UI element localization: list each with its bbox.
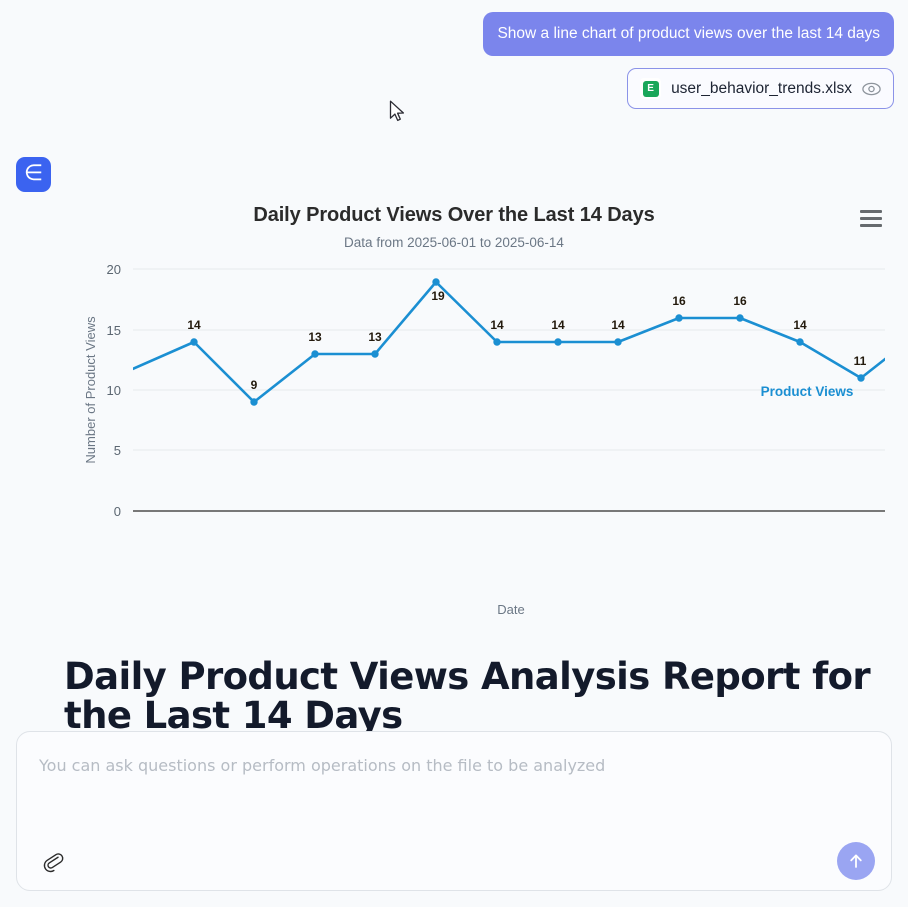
chart-marker: [796, 338, 803, 345]
y-tick-15: 15: [107, 323, 121, 338]
y-tick-0: 0: [114, 504, 121, 519]
mouse-cursor: [389, 100, 407, 129]
assistant-avatar: ∈: [16, 157, 51, 192]
data-label: 9: [251, 378, 258, 392]
chart-y-tick-labels: 20 15 10 5 0: [107, 262, 121, 519]
data-label: 14: [793, 318, 807, 332]
attachment-file-name: user_behavior_trends.xlsx: [671, 80, 852, 98]
send-button[interactable]: [837, 842, 875, 880]
chart-marker: [371, 350, 378, 357]
excel-file-icon-letter: E: [643, 81, 659, 97]
data-label: 16: [672, 294, 686, 308]
user-message-row: Show a line chart of product views over …: [0, 0, 908, 56]
chart-x-axis-title: Date: [497, 602, 524, 617]
data-label: 13: [368, 330, 382, 344]
data-label: 14: [611, 318, 625, 332]
data-label: 11: [854, 354, 867, 368]
chart-marker: [614, 338, 621, 345]
chart-series-label: Product Views: [761, 384, 854, 399]
chart-y-axis-title: Number of Product Views: [83, 316, 98, 464]
chart-marker: [736, 314, 743, 321]
chart-data-labels: 14 9 13 13 19 14 14 14 16 16 14 11: [187, 289, 866, 392]
attachment-chip[interactable]: E user_behavior_trends.xlsx: [627, 68, 894, 109]
chart-marker: [432, 278, 439, 285]
user-message-bubble: Show a line chart of product views over …: [483, 12, 894, 56]
line-chart: Daily Product Views Over the Last 14 Day…: [0, 190, 908, 630]
paperclip-icon[interactable]: [37, 846, 67, 876]
data-label: 14: [187, 318, 201, 332]
attachment-row: E user_behavior_trends.xlsx: [0, 56, 908, 109]
data-label: 13: [308, 330, 322, 344]
composer-placeholder[interactable]: You can ask questions or perform operati…: [39, 756, 605, 775]
report-heading: Daily Product Views Analysis Report for …: [64, 658, 876, 736]
data-label: 14: [551, 318, 565, 332]
chat-thread: Show a line chart of product views over …: [0, 0, 908, 109]
arrow-up-icon: [846, 851, 866, 871]
assistant-avatar-glyph: ∈: [24, 163, 43, 185]
chart-marker: [857, 374, 864, 381]
chart-marker: [675, 314, 682, 321]
chart-canvas: 20 15 10 5 0 Number of Product Views Dat…: [0, 190, 908, 630]
data-label: 14: [490, 318, 504, 332]
y-tick-5: 5: [114, 443, 121, 458]
excel-file-icon: E: [640, 78, 661, 99]
y-tick-10: 10: [107, 383, 121, 398]
chart-marker: [493, 338, 500, 345]
data-label: 19: [431, 289, 445, 303]
y-tick-20: 20: [107, 262, 121, 277]
chart-marker: [554, 338, 561, 345]
chart-marker: [190, 338, 197, 345]
message-composer[interactable]: You can ask questions or perform operati…: [16, 731, 892, 891]
chart-gridlines: [133, 269, 885, 450]
data-label: 16: [733, 294, 747, 308]
chart-marker: [311, 350, 318, 357]
eye-icon[interactable]: [862, 82, 881, 96]
chart-marker: [250, 398, 257, 405]
